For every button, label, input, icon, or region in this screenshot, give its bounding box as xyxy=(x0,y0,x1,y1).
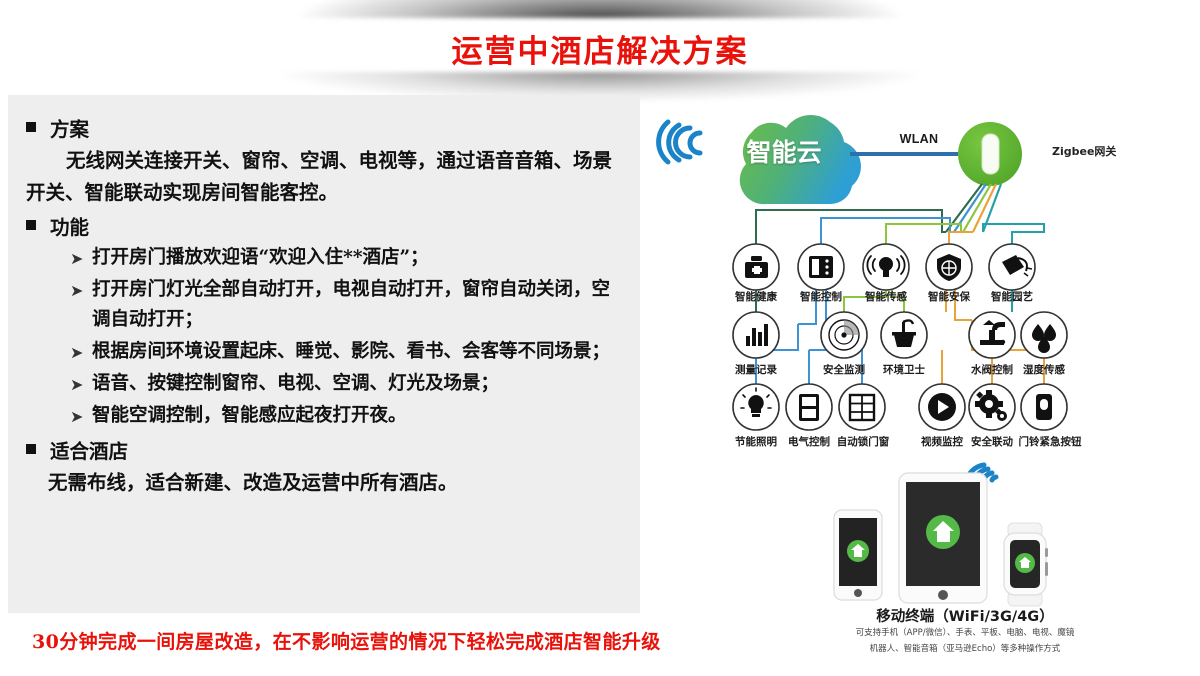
icon-label-measure-record: 测量记录 xyxy=(726,362,786,377)
chevron-right-icon: ➤ xyxy=(70,404,92,430)
page-title: 运营中酒店解决方案 xyxy=(0,26,1200,71)
square-bullet-icon xyxy=(26,220,36,230)
list-item-label: 语音、按键控制窗帘、电视、空调、灯光及场景； xyxy=(92,369,626,399)
wifi-arcs-icon xyxy=(659,122,700,162)
footer-highlight-note: 30分钟完成一间房屋改造，在不影响运营的情况下轻松完成酒店智能升级 xyxy=(32,627,661,654)
icon-label-smart-gardening: 智能园艺 xyxy=(982,289,1042,304)
left-content-panel: 方案 无线网关连接开关、窗帘、空调、电视等，通过语音音箱、场景开关、智能联动实现… xyxy=(8,95,640,613)
video-play-icon xyxy=(919,384,965,430)
icon-label-auto-lock: 自动锁门窗 xyxy=(827,434,899,449)
chevron-right-icon: ➤ xyxy=(70,246,92,272)
chevron-right-icon: ➤ xyxy=(70,340,92,366)
humidity-droplets-icon xyxy=(1021,312,1067,358)
icon-label-water-valve: 水阀控制 xyxy=(962,362,1022,377)
list-item: ➤ 打开房门播放欢迎语“欢迎入住**酒店”； xyxy=(70,243,626,273)
list-item-label: 根据房间环境设置起床、睡觉、影院、看书、会客等不同场景； xyxy=(92,337,626,367)
icon-label-safety-monitor: 安全监测 xyxy=(814,362,874,377)
section-heading-label: 功能 xyxy=(50,211,89,240)
architecture-diagram xyxy=(646,92,1200,676)
zigbee-gateway-icon xyxy=(958,122,1022,186)
list-item: ➤ 打开房门灯光全部自动打开，电视自动打开，窗帘自动关闭，空调自动打开； xyxy=(70,275,626,335)
icon-label-smart-security: 智能安保 xyxy=(919,289,979,304)
radar-icon xyxy=(821,312,867,358)
mobile-terminal-subtitle-line1: 可支持手机（APP/微信）、手表、平板、电脑、电视、魔镜 xyxy=(785,627,1145,640)
icon-label-smart-sensing: 智能传感 xyxy=(856,289,916,304)
icon-label-smart-control: 智能控制 xyxy=(791,289,851,304)
section-heading-label: 方案 xyxy=(50,113,89,142)
gear-icon xyxy=(969,384,1015,430)
list-item-label: 打开房门灯光全部自动打开，电视自动打开，窗帘自动关闭，空调自动打开； xyxy=(92,275,626,335)
list-item-label: 智能空调控制，智能感应起夜打开夜。 xyxy=(92,401,626,431)
watering-can-icon xyxy=(989,244,1035,290)
title-shadow-top xyxy=(300,0,900,18)
window-lock-icon xyxy=(839,384,885,430)
icon-label-smart-health: 智能健康 xyxy=(726,289,786,304)
mobile-terminal-subtitle-line2: 机器人、智能音箱（亚马逊Echo）等多种操作方式 xyxy=(785,643,1145,656)
square-bullet-icon xyxy=(26,122,36,132)
icon-label-doorbell-button: 门铃紧急按钮 xyxy=(1008,434,1092,449)
section-heading-suitable: 适合酒店 xyxy=(26,435,626,464)
section-heading-function: 功能 xyxy=(26,211,626,240)
section-paragraph-plan: 无线网关连接开关、窗帘、空调、电视等，通过语音音箱、场景开关、智能联动实现房间智… xyxy=(26,145,626,208)
list-item: ➤ 智能空调控制，智能感应起夜打开夜。 xyxy=(70,401,626,431)
doorbell-button-icon xyxy=(1021,384,1067,430)
slide-root: 运营中酒店解决方案 方案 无线网关连接开关、窗帘、空调、电视等，通过语音音箱、场… xyxy=(0,0,1200,676)
list-item-label: 打开房门播放欢迎语“欢迎入住**酒店”； xyxy=(92,243,626,273)
sensor-signal-icon xyxy=(863,244,909,290)
icon-label-humidity-sensor: 湿度传感 xyxy=(1014,362,1074,377)
cloud-label: 智能云 xyxy=(724,133,844,169)
diagram-canvas xyxy=(646,92,1200,676)
icon-label-env-guard: 环境卫士 xyxy=(874,362,934,377)
light-bulb-icon xyxy=(733,384,779,430)
control-panel-icon xyxy=(798,244,844,290)
medical-kit-icon xyxy=(733,244,779,290)
section-heading-label: 适合酒店 xyxy=(50,435,128,464)
tablet-icon xyxy=(899,473,987,603)
icon-label-energy-lighting: 节能照明 xyxy=(726,434,786,449)
mobile-terminal-title: 移动终端（WiFi/3G/4G） xyxy=(800,605,1130,626)
smartwatch-icon xyxy=(1004,523,1048,606)
list-item: ➤ 语音、按键控制窗帘、电视、空调、灯光及场景； xyxy=(70,369,626,399)
air-guard-icon xyxy=(881,312,927,358)
gateway-label: Zigbee网关 xyxy=(1052,143,1116,159)
section-heading-plan: 方案 xyxy=(26,113,626,142)
bar-chart-icon xyxy=(733,312,779,358)
list-item: ➤ 根据房间环境设置起床、睡觉、影院、看书、会客等不同场景； xyxy=(70,337,626,367)
shield-icon xyxy=(926,244,972,290)
chevron-right-icon: ➤ xyxy=(70,372,92,398)
section-paragraph-suitable: 无需布线，适合新建、改造及运营中所有酒店。 xyxy=(26,467,626,499)
chevron-right-icon: ➤ xyxy=(70,278,92,304)
square-bullet-icon xyxy=(26,444,36,454)
smartphone-icon xyxy=(834,510,882,600)
branch-lines-row1 xyxy=(756,210,1044,244)
wlan-label: WLAN xyxy=(884,132,954,146)
faucet-icon xyxy=(969,312,1015,358)
power-switch-icon xyxy=(786,384,832,430)
